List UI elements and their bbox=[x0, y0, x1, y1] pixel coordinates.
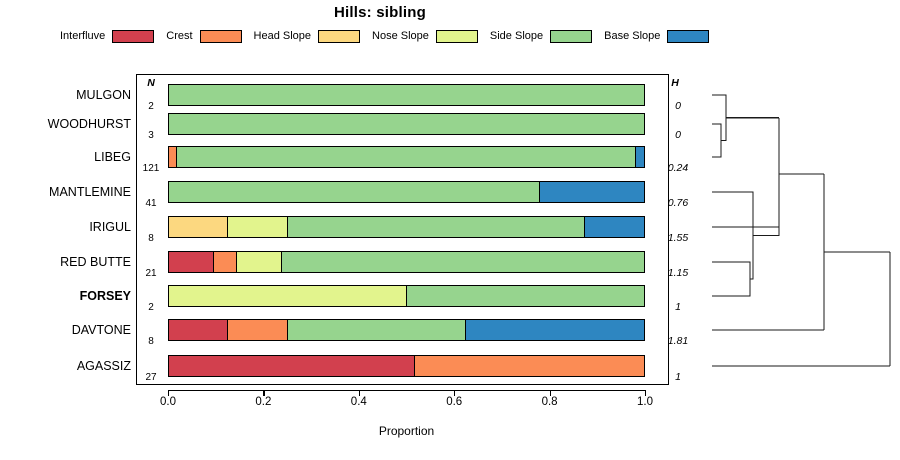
legend-label: Head Slope bbox=[254, 30, 312, 42]
stacked-bar[interactable] bbox=[168, 355, 645, 377]
legend-item-side-slope[interactable]: Side Slope bbox=[490, 30, 592, 43]
bar-segment[interactable] bbox=[540, 182, 645, 202]
n-value: 121 bbox=[137, 163, 165, 174]
bar-segment[interactable] bbox=[169, 286, 407, 306]
y-axis-label: RED BUTTE bbox=[0, 255, 131, 269]
legend-swatch-head-slope bbox=[318, 30, 360, 43]
x-axis-tick-label: 0.2 bbox=[238, 396, 288, 408]
bar-segment[interactable] bbox=[228, 320, 287, 340]
bar-segment[interactable] bbox=[214, 252, 237, 272]
n-value: 3 bbox=[137, 130, 165, 141]
dendro-link-redbutte-forsey bbox=[712, 262, 750, 296]
chart-root: Hills: sibling Interfluve Crest Head Slo… bbox=[0, 0, 900, 460]
n-value: 2 bbox=[137, 101, 165, 112]
bar-segment[interactable] bbox=[282, 252, 644, 272]
n-value: 8 bbox=[137, 336, 165, 347]
bar-segment[interactable] bbox=[407, 286, 645, 306]
dendro-link-woodhurst-libeg bbox=[712, 124, 721, 157]
y-axis-label: DAVTONE bbox=[0, 323, 131, 337]
bar-segment[interactable] bbox=[237, 252, 282, 272]
legend-item-head-slope[interactable]: Head Slope bbox=[254, 30, 361, 43]
n-value: 21 bbox=[137, 268, 165, 279]
legend-swatch-nose-slope bbox=[436, 30, 478, 43]
legend-label: Interfluve bbox=[60, 30, 105, 42]
n-column-header: N bbox=[137, 78, 165, 89]
legend-label: Side Slope bbox=[490, 30, 543, 42]
legend-item-crest[interactable]: Crest bbox=[166, 30, 241, 43]
y-axis-label: WOODHURST bbox=[0, 117, 131, 131]
dendro-link-irigul-cluster bbox=[712, 227, 779, 236]
y-axis-label: MULGON bbox=[0, 88, 131, 102]
legend-item-base-slope[interactable]: Base Slope bbox=[604, 30, 709, 43]
legend-label: Nose Slope bbox=[372, 30, 429, 42]
x-axis-tick-label: 1.0 bbox=[620, 396, 670, 408]
page-title: Hills: sibling bbox=[0, 4, 760, 21]
y-axis-label: FORSEY bbox=[0, 289, 131, 303]
x-axis-tick-label: 0.0 bbox=[143, 396, 193, 408]
x-axis-label: Proportion bbox=[168, 424, 645, 438]
y-axis-label: IRIGUL bbox=[0, 220, 131, 234]
bar-segment[interactable] bbox=[228, 217, 287, 237]
bar-segment[interactable] bbox=[169, 356, 415, 376]
stacked-bar[interactable] bbox=[168, 216, 645, 238]
dendrogram bbox=[690, 74, 900, 385]
dendro-link-mulgon-cluster bbox=[712, 95, 726, 141]
stacked-bar[interactable] bbox=[168, 113, 645, 135]
x-axis-line bbox=[168, 390, 645, 391]
legend-swatch-crest bbox=[200, 30, 242, 43]
y-axis-label: MANTLEMINE bbox=[0, 185, 131, 199]
bar-segment[interactable] bbox=[169, 182, 540, 202]
n-value: 2 bbox=[137, 302, 165, 313]
legend-swatch-side-slope bbox=[550, 30, 592, 43]
stacked-bar[interactable] bbox=[168, 181, 645, 203]
legend: Interfluve Crest Head Slope Nose Slope S… bbox=[60, 26, 760, 46]
n-value: 27 bbox=[137, 372, 165, 383]
n-value: 41 bbox=[137, 198, 165, 209]
stacked-bar[interactable] bbox=[168, 251, 645, 273]
legend-item-interfluve[interactable]: Interfluve bbox=[60, 30, 154, 43]
legend-swatch-base-slope bbox=[667, 30, 709, 43]
stacked-bar[interactable] bbox=[168, 319, 645, 341]
bar-segment[interactable] bbox=[169, 147, 177, 167]
legend-swatch-interfluve bbox=[112, 30, 154, 43]
bar-segment[interactable] bbox=[288, 217, 585, 237]
stacked-bar[interactable] bbox=[168, 84, 645, 106]
bar-segment[interactable] bbox=[636, 147, 644, 167]
h-column-header: H bbox=[660, 78, 690, 89]
stacked-bar[interactable] bbox=[168, 285, 645, 307]
legend-label: Base Slope bbox=[604, 30, 660, 42]
dendro-link-mantlemine-cluster bbox=[712, 192, 753, 279]
bar-segment[interactable] bbox=[177, 147, 636, 167]
n-column: N 23121418212827 bbox=[137, 74, 165, 385]
bar-segment[interactable] bbox=[415, 356, 644, 376]
x-axis-tick-label: 0.4 bbox=[334, 396, 384, 408]
bar-segment[interactable] bbox=[169, 252, 214, 272]
legend-label: Crest bbox=[166, 30, 192, 42]
bar-segment[interactable] bbox=[169, 217, 228, 237]
stacked-bar[interactable] bbox=[168, 146, 645, 168]
y-axis-label: AGASSIZ bbox=[0, 359, 131, 373]
bar-segment[interactable] bbox=[288, 320, 466, 340]
bar-segment[interactable] bbox=[169, 320, 228, 340]
dendrogram-svg bbox=[690, 74, 900, 385]
bar-segment[interactable] bbox=[169, 114, 644, 134]
bar-segment[interactable] bbox=[169, 85, 644, 105]
bar-segment[interactable] bbox=[585, 217, 644, 237]
x-axis-tick-label: 0.6 bbox=[429, 396, 479, 408]
y-axis-labels: MULGONWOODHURSTLIBEGMANTLEMINEIRIGULRED … bbox=[0, 74, 131, 385]
n-value: 8 bbox=[137, 233, 165, 244]
legend-item-nose-slope[interactable]: Nose Slope bbox=[372, 30, 478, 43]
y-axis-label: LIBEG bbox=[0, 150, 131, 164]
x-axis-tick-label: 0.8 bbox=[525, 396, 575, 408]
bar-segment[interactable] bbox=[466, 320, 644, 340]
